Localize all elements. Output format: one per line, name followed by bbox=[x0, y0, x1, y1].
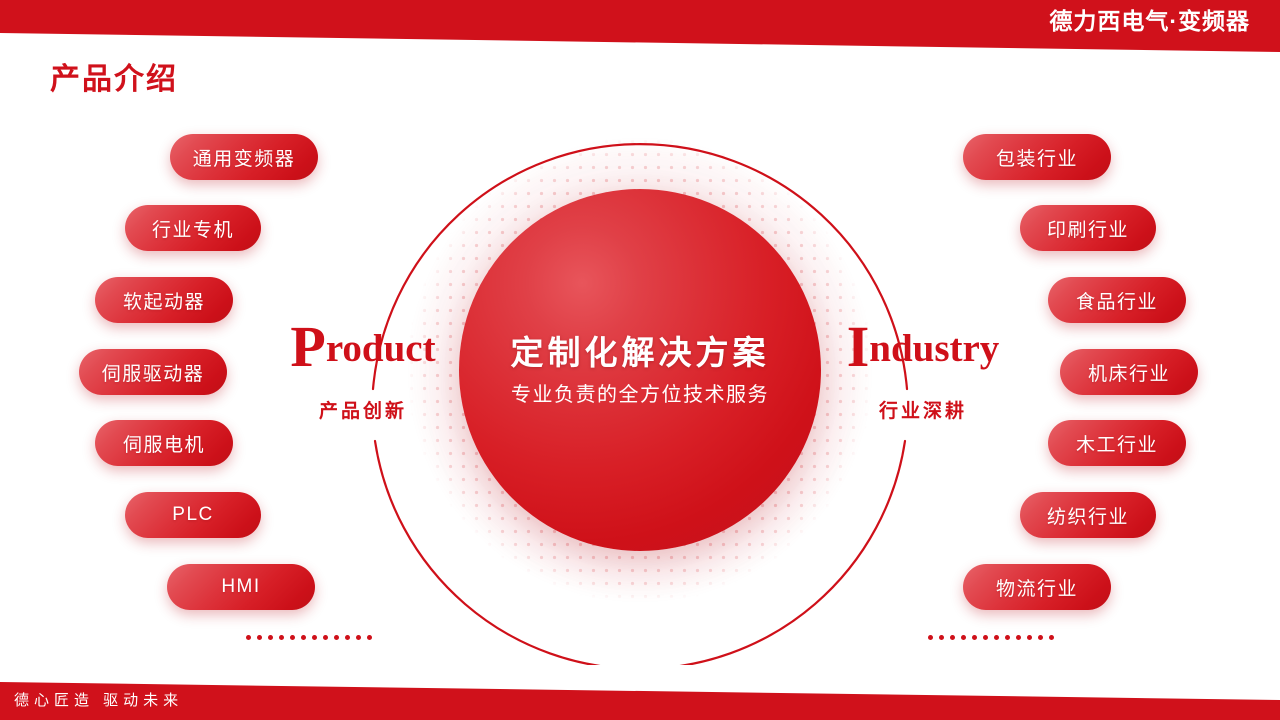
industry-pill-1[interactable]: 印刷行业 bbox=[1020, 205, 1156, 251]
right-dot-row bbox=[928, 635, 1054, 640]
left-section-cn: 产品创新 bbox=[268, 396, 458, 423]
left-section-en-rest: roduct bbox=[326, 327, 436, 370]
left-section-heading: Product 产品创新 bbox=[268, 318, 458, 423]
industry-pill-2[interactable]: 食品行业 bbox=[1048, 277, 1186, 323]
product-pill-2[interactable]: 软起动器 bbox=[95, 277, 233, 323]
industry-pill-3[interactable]: 机床行业 bbox=[1060, 349, 1198, 395]
dot bbox=[268, 635, 273, 640]
right-section-cn: 行业深耕 bbox=[828, 396, 1018, 423]
left-section-en-capital: P bbox=[290, 314, 325, 379]
industry-pill-0[interactable]: 包装行业 bbox=[963, 134, 1111, 180]
dot bbox=[312, 635, 317, 640]
dot bbox=[279, 635, 284, 640]
center-subtitle: 专业负责的全方位技术服务 bbox=[511, 382, 769, 408]
dot bbox=[950, 635, 955, 640]
dot bbox=[345, 635, 350, 640]
product-pill-0[interactable]: 通用变频器 bbox=[170, 134, 318, 180]
product-pill-3[interactable]: 伺服驱动器 bbox=[79, 349, 227, 395]
right-section-heading: Industry 行业深耕 bbox=[828, 318, 1018, 423]
industry-pill-5[interactable]: 纺织行业 bbox=[1020, 492, 1156, 538]
right-section-en-capital: I bbox=[847, 314, 870, 379]
dot bbox=[290, 635, 295, 640]
industry-pill-4[interactable]: 木工行业 bbox=[1048, 420, 1186, 466]
dot bbox=[257, 635, 262, 640]
dot bbox=[928, 635, 933, 640]
dot bbox=[1038, 635, 1043, 640]
right-section-en: Industry bbox=[828, 318, 1018, 376]
left-dot-row bbox=[246, 635, 372, 640]
dot bbox=[983, 635, 988, 640]
dot bbox=[367, 635, 372, 640]
product-pill-1[interactable]: 行业专机 bbox=[125, 205, 261, 251]
dot bbox=[1027, 635, 1032, 640]
dot bbox=[356, 635, 361, 640]
product-pill-5[interactable]: PLC bbox=[125, 492, 261, 538]
left-section-en: Product bbox=[268, 318, 458, 376]
dot bbox=[301, 635, 306, 640]
dot bbox=[939, 635, 944, 640]
product-pill-4[interactable]: 伺服电机 bbox=[95, 420, 233, 466]
dot bbox=[334, 635, 339, 640]
product-pill-6[interactable]: HMI bbox=[167, 564, 315, 610]
page-title: 产品介绍 bbox=[50, 54, 178, 98]
brand-logo-text: 德力西电气·变频器 bbox=[1049, 6, 1250, 36]
dot bbox=[323, 635, 328, 640]
dot bbox=[1005, 635, 1010, 640]
center-main-title: 定制化解决方案 bbox=[511, 332, 770, 373]
center-sphere: 定制化解决方案 专业负责的全方位技术服务 bbox=[459, 189, 821, 551]
dot bbox=[246, 635, 251, 640]
industry-pill-6[interactable]: 物流行业 bbox=[963, 564, 1111, 610]
footer-slogan: 德心匠造 驱动未来 bbox=[14, 689, 183, 710]
right-section-en-rest: ndustry bbox=[869, 327, 999, 370]
slide-canvas: 定制化解决方案 专业负责的全方位技术服务 德力西电气·变频器 产品介绍 Prod… bbox=[0, 0, 1280, 720]
dot bbox=[994, 635, 999, 640]
dot bbox=[961, 635, 966, 640]
dot bbox=[972, 635, 977, 640]
dot bbox=[1016, 635, 1021, 640]
dot bbox=[1049, 635, 1054, 640]
